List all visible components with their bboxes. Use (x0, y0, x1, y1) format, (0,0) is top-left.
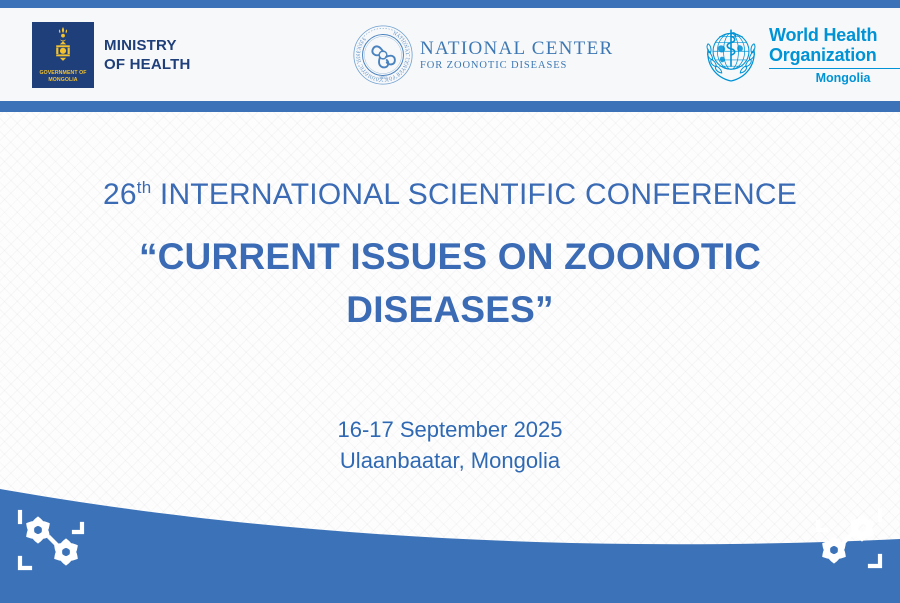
conference-ordinal-suffix: th (137, 178, 152, 197)
ministry-of-health-logo: GOVERNMENT OF MONGOLIA MINISTRY OF HEALT… (32, 22, 191, 88)
who-emblem-icon (700, 24, 762, 86)
header-divider-bar (0, 101, 900, 112)
event-dates: 16-17 September 2025 (0, 414, 900, 445)
national-center-line1: NATIONAL CENTER (420, 38, 613, 59)
mongolian-knot-ornament-left (14, 508, 100, 583)
conference-number-title: 26th INTERNATIONAL SCIENTIFIC CONFERENCE (0, 178, 900, 212)
mongolian-knot-ornament-right (800, 506, 886, 581)
national-center-line2: FOR ZOONOTIC DISEASES (420, 59, 613, 72)
bottom-wave-band (0, 463, 900, 603)
top-accent-bar (0, 0, 900, 8)
ministry-of-health-label: MINISTRY OF HEALTH (104, 36, 191, 74)
soyombo-emblem: GOVERNMENT OF MONGOLIA (32, 22, 94, 88)
biohazard-seal-icon: NATIONAL CENTER FOR ZOONOTIC DISEASES 19… (352, 24, 414, 86)
who-logo: World Health Organization Mongolia (700, 24, 900, 86)
conference-number: 26 (103, 178, 137, 211)
logo-row: GOVERNMENT OF MONGOLIA MINISTRY OF HEALT… (0, 8, 900, 101)
who-line1: World Health (769, 25, 900, 45)
conference-title-slide: GOVERNMENT OF MONGOLIA MINISTRY OF HEALT… (0, 0, 900, 603)
svg-text:NATIONAL CENTER FOR ZOONOTIC D: NATIONAL CENTER FOR ZOONOTIC DISEASES (356, 31, 410, 82)
svg-text:1951: 1951 (379, 75, 387, 80)
national-center-label: NATIONAL CENTER FOR ZOONOTIC DISEASES (420, 38, 613, 72)
ministry-label-line2: OF HEALTH (104, 55, 191, 74)
theme-line-2: DISEASES” (60, 283, 840, 336)
who-country-label: Mongolia (769, 71, 900, 85)
who-label: World Health Organization Mongolia (769, 25, 900, 86)
emblem-caption: GOVERNMENT OF MONGOLIA (32, 70, 94, 84)
ministry-label-line1: MINISTRY (104, 36, 191, 55)
national-center-logo: NATIONAL CENTER FOR ZOONOTIC DISEASES 19… (352, 24, 613, 86)
conference-title-text: INTERNATIONAL SCIENTIFIC CONFERENCE (151, 178, 797, 211)
theme-line-1: “CURRENT ISSUES ON ZOONOTIC (60, 230, 840, 283)
conference-theme-title: “CURRENT ISSUES ON ZOONOTIC DISEASES” (60, 230, 840, 336)
who-line2: Organization (769, 45, 900, 65)
who-underline-rule (769, 68, 900, 70)
